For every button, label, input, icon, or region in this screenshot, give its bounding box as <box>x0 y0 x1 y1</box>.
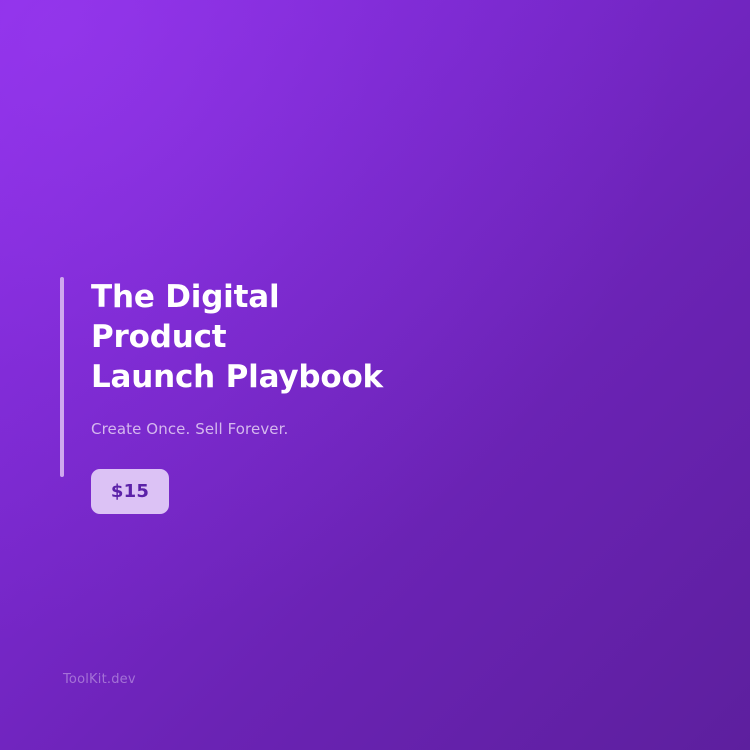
price-badge[interactable]: $15 <box>91 469 169 514</box>
brand-footer: ToolKit.dev <box>63 672 136 687</box>
promo-text-stack: The Digital Product Launch Playbook Crea… <box>64 277 421 514</box>
page-title: The Digital Product Launch Playbook <box>91 277 421 397</box>
promo-card: The Digital Product Launch Playbook Crea… <box>0 0 750 750</box>
promo-content-block: The Digital Product Launch Playbook Crea… <box>60 277 421 477</box>
headline-line-1: The Digital Product <box>91 279 279 355</box>
headline-line-2: Launch Playbook <box>91 359 383 395</box>
tagline: Create Once. Sell Forever. <box>91 397 421 439</box>
